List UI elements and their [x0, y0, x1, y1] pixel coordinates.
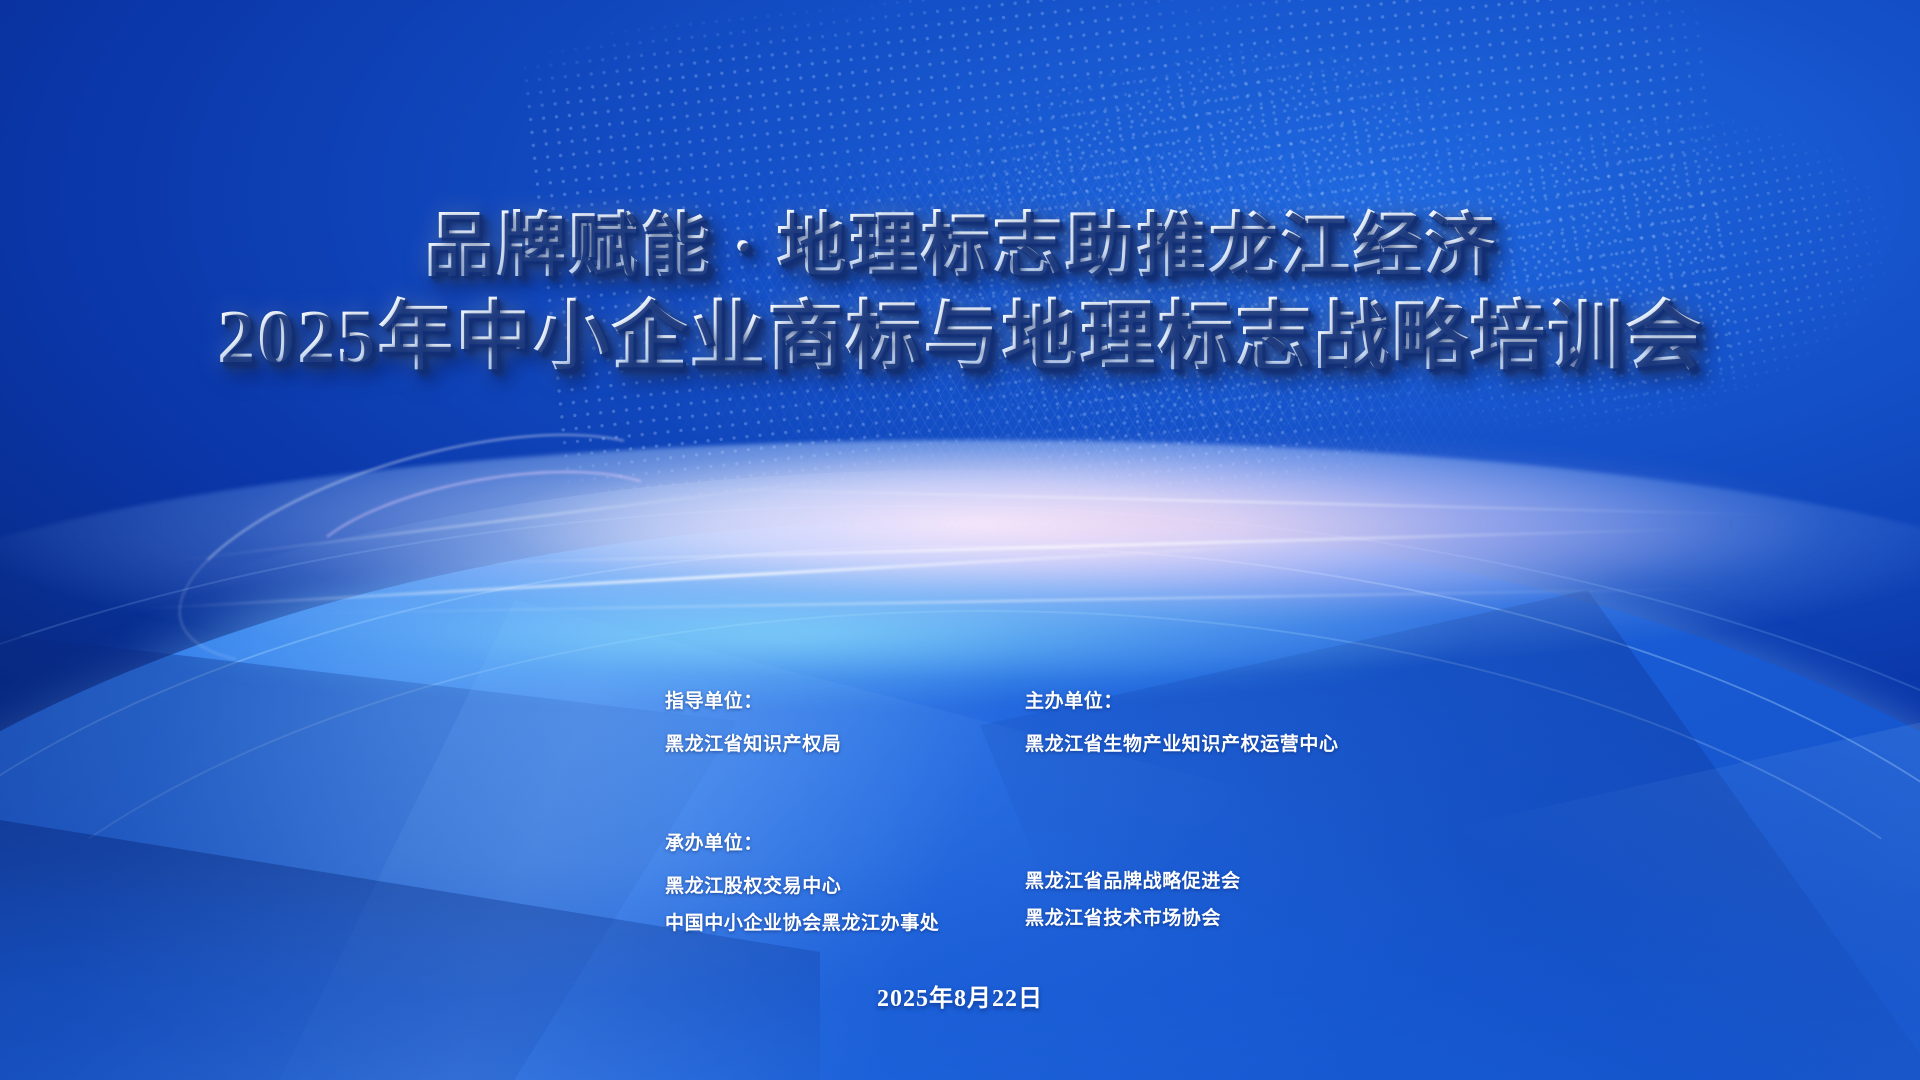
- poster-title-line-2: 2025年中小企业商标与地理标志战略培训会: [0, 293, 1920, 383]
- poster-title-block: 品牌赋能 · 地理标志助推龙江经济 2025年中小企业商标与地理标志战略培训会: [0, 206, 1920, 382]
- organizer-label-spacer: [1025, 828, 1425, 850]
- host-org-1: 黑龙江省生物产业知识产权运营中心: [1025, 729, 1425, 756]
- guidance-column: 指导单位： 黑龙江省知识产权局: [665, 686, 1025, 766]
- event-date: 2025年8月22日: [0, 978, 1920, 1013]
- organizer-org-left-1: 黑龙江股权交易中心: [665, 871, 1025, 898]
- poster-title-line-1: 品牌赋能 · 地理标志助推龙江经济: [0, 206, 1920, 289]
- credits-spacer-left: [665, 766, 1025, 828]
- guidance-label: 指导单位：: [665, 686, 1025, 713]
- poster-canvas: 品牌赋能 · 地理标志助推龙江经济 2025年中小企业商标与地理标志战略培训会 …: [0, 0, 1920, 1080]
- credits-spacer-right: [1025, 766, 1425, 828]
- organizer-label: 承办单位：: [665, 828, 1025, 855]
- organizer-credits: 指导单位： 黑龙江省知识产权局 主办单位： 黑龙江省生物产业知识产权运营中心 承…: [665, 686, 1425, 945]
- guidance-org-1: 黑龙江省知识产权局: [665, 729, 1025, 756]
- organizer-column-left: 承办单位： 黑龙江股权交易中心 中国中小企业协会黑龙江办事处: [665, 828, 1025, 945]
- organizer-org-right-1: 黑龙江省品牌战略促进会: [1025, 866, 1425, 893]
- organizer-org-right-2: 黑龙江省技术市场协会: [1025, 903, 1425, 930]
- host-label: 主办单位：: [1025, 686, 1425, 713]
- organizer-column-right: 黑龙江省品牌战略促进会 黑龙江省技术市场协会: [1025, 828, 1425, 945]
- host-column: 主办单位： 黑龙江省生物产业知识产权运营中心: [1025, 686, 1425, 766]
- organizer-org-left-2: 中国中小企业协会黑龙江办事处: [665, 908, 1025, 935]
